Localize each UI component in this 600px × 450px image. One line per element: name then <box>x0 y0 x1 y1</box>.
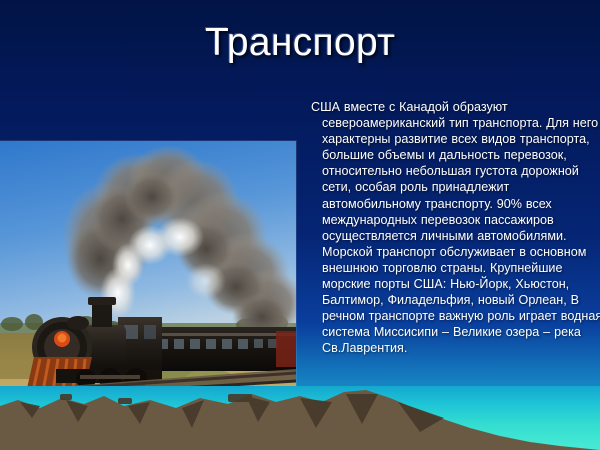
locomotive-photo <box>0 141 296 401</box>
bottom-gradient-band <box>0 386 600 450</box>
locomotive-illustration <box>0 141 296 401</box>
mountain-silhouette <box>0 388 600 450</box>
presentation-slide: Транспорт США вместе с Канадой образуют … <box>0 0 600 450</box>
passenger-coaches <box>150 327 296 371</box>
body-paragraph: США вместе с Канадой образуют североамер… <box>311 99 600 357</box>
page-title: Транспорт <box>205 20 585 66</box>
hills-front <box>0 390 600 450</box>
